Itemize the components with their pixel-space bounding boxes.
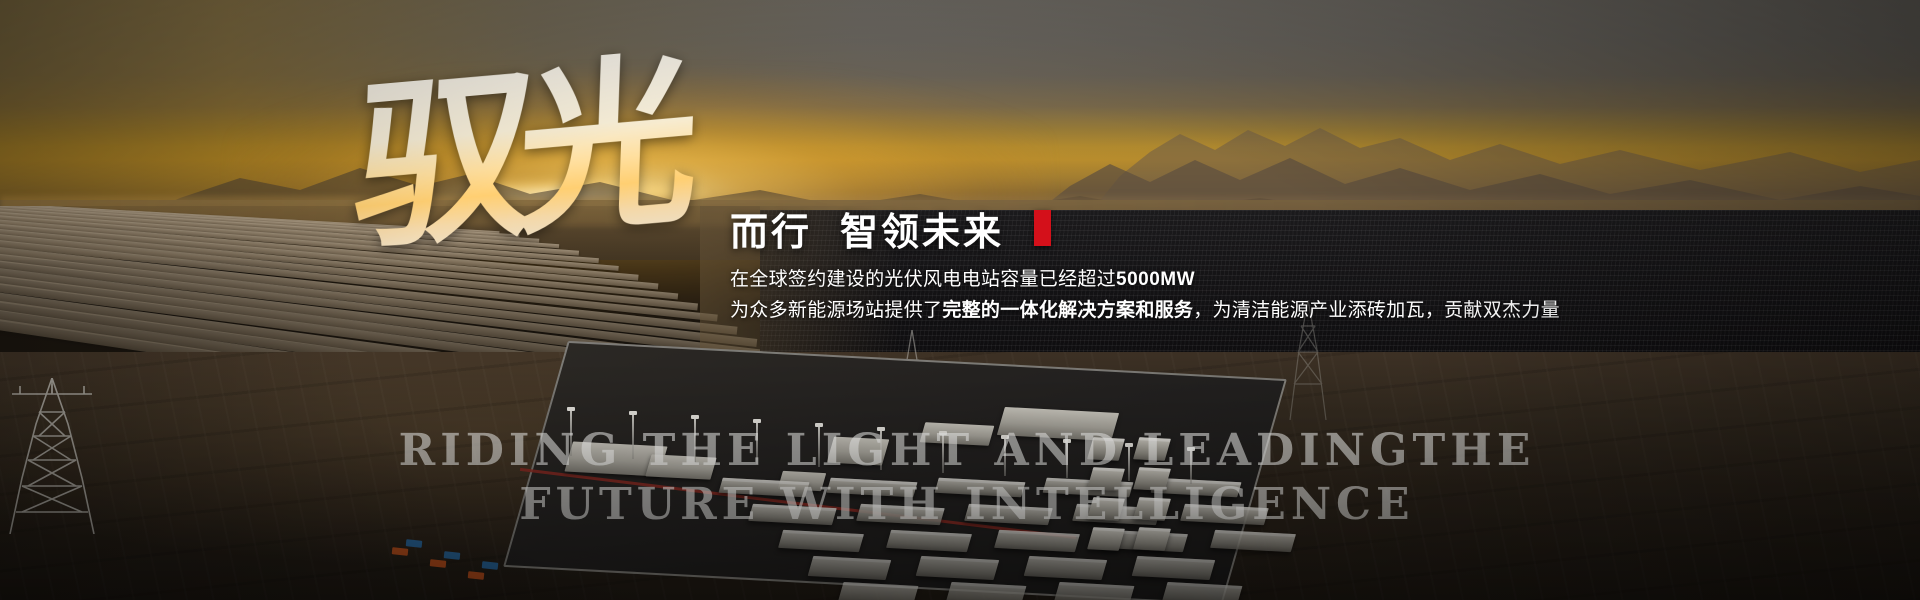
facility-building bbox=[645, 454, 716, 479]
light-pole bbox=[694, 418, 696, 462]
calligraphy-title: 驭光 bbox=[348, 46, 708, 338]
subtitle-line-2: 为众多新能源场站提供了完整的一体化解决方案和服务，为清洁能源产业添砖加瓦，贡献双… bbox=[730, 296, 1730, 325]
headline-part-b: 智领未来 bbox=[840, 201, 1004, 256]
switch-cabinet bbox=[1133, 467, 1171, 491]
switch-cabinet bbox=[1087, 467, 1125, 491]
switch-cabinet bbox=[1133, 497, 1171, 521]
battery-container bbox=[946, 582, 1027, 600]
subtitle-line-1: 在全球签约建设的光伏风电电站容量已经超过5000MW bbox=[730, 265, 1730, 294]
subtitle-line2-c: ，为清洁能源产业添砖加瓦，贡献双杰力量 bbox=[1193, 300, 1560, 321]
headline-part-a: 而行 bbox=[730, 201, 812, 256]
switch-cabinet bbox=[1087, 527, 1125, 551]
switch-cabinet bbox=[1133, 527, 1171, 551]
light-pole bbox=[1004, 438, 1006, 476]
facility-building bbox=[920, 422, 995, 446]
light-pole bbox=[880, 430, 882, 470]
red-accent-block bbox=[1034, 210, 1051, 246]
switch-cabinet bbox=[1087, 437, 1125, 461]
copy-block: 而行 智领未来 在全球签约建设的光伏风电电站容量已经超过5000MW 为众多新能… bbox=[730, 205, 1730, 325]
battery-storage-facility bbox=[530, 352, 1290, 592]
light-pole bbox=[570, 410, 572, 456]
subtitle-line2-a: 为众多新能源场站提供了 bbox=[730, 300, 942, 321]
light-pole bbox=[818, 426, 820, 467]
switch-cabinet bbox=[1133, 437, 1171, 461]
light-pole bbox=[1190, 450, 1192, 484]
battery-container bbox=[1054, 582, 1135, 600]
switch-cabinet bbox=[1087, 497, 1125, 521]
battery-container bbox=[916, 556, 999, 580]
transmission-tower-icon bbox=[6, 378, 98, 534]
light-pole bbox=[756, 422, 758, 464]
battery-container bbox=[1162, 582, 1243, 600]
subtitle-line1-number: 5000MW bbox=[1116, 269, 1195, 290]
subtitle-line2-bold: 完整的一体化解决方案和服务 bbox=[942, 300, 1193, 321]
facility-building bbox=[997, 407, 1119, 441]
battery-container bbox=[1132, 556, 1215, 580]
battery-container bbox=[808, 556, 891, 580]
light-pole bbox=[1066, 442, 1068, 478]
light-pole bbox=[632, 414, 634, 459]
hero-banner: 驭光 而行 智领未来 在全球签约建设的光伏风电电站容量已经超过5000MW 为众… bbox=[0, 0, 1920, 600]
battery-container bbox=[1024, 556, 1107, 580]
light-pole bbox=[942, 434, 944, 473]
light-pole bbox=[1128, 446, 1130, 481]
subtitle-line1-prefix: 在全球签约建设的光伏风电电站容量已经超过 bbox=[730, 269, 1116, 290]
battery-container bbox=[838, 582, 919, 600]
headline: 而行 智领未来 bbox=[730, 205, 1730, 251]
